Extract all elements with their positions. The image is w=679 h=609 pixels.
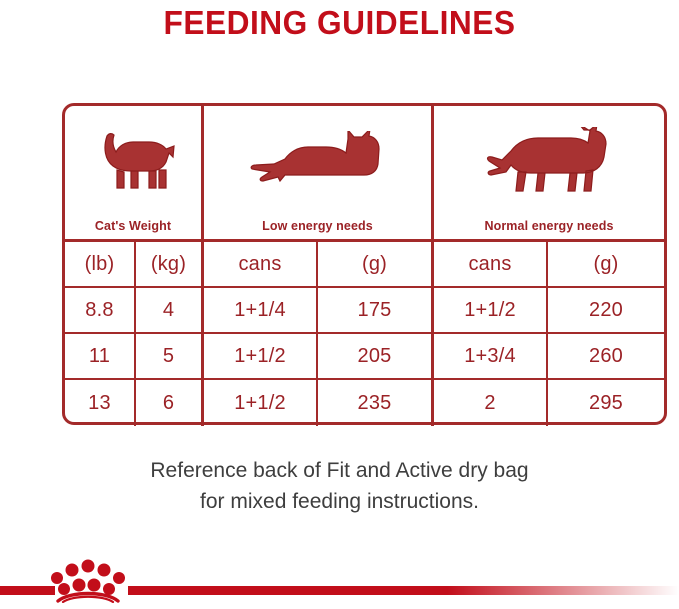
- cell-low-cans: 1+1/4: [204, 288, 318, 332]
- cell-normal-cans: 1+3/4: [434, 334, 548, 378]
- subheader-normal-cans: cans: [434, 242, 548, 286]
- cell-normal-cans: 2: [434, 380, 548, 426]
- cell-lb: 11: [65, 334, 136, 378]
- cat-walking-icon: [434, 106, 664, 217]
- cell-lb: 13: [65, 380, 136, 426]
- brand-footer: [0, 545, 679, 609]
- feeding-note: Reference back of Fit and Active dry bag…: [0, 455, 679, 517]
- cell-kg: 5: [136, 334, 204, 378]
- table-row: 11 5 1+1/2 205 1+3/4 260: [65, 334, 664, 380]
- cell-kg: 6: [136, 380, 204, 426]
- cell-low-cans: 1+1/2: [204, 334, 318, 378]
- table-row: 13 6 1+1/2 235 2 295: [65, 380, 664, 426]
- feeding-note-line-1: Reference back of Fit and Active dry bag: [0, 455, 679, 486]
- cell-normal-grams: 220: [548, 288, 664, 332]
- subheader-normal-grams: (g): [548, 242, 664, 286]
- subheader-lb: (lb): [65, 242, 136, 286]
- subheader-low-cans: cans: [204, 242, 318, 286]
- header-cell-normal-energy: Normal energy needs: [434, 106, 664, 239]
- header-label-cats-weight: Cat's Weight: [95, 219, 171, 233]
- header-cell-low-energy: Low energy needs: [204, 106, 434, 239]
- feeding-note-line-2: for mixed feeding instructions.: [0, 486, 679, 517]
- cat-standing-icon: [65, 106, 201, 217]
- table-subheader-row: (lb) (kg) cans (g) cans (g): [65, 242, 664, 288]
- cell-low-grams: 175: [318, 288, 434, 332]
- table-row: 8.8 4 1+1/4 175 1+1/2 220: [65, 288, 664, 334]
- header-label-low-energy: Low energy needs: [262, 219, 373, 233]
- subheader-kg: (kg): [136, 242, 204, 286]
- cell-normal-grams: 295: [548, 380, 664, 426]
- royal-canin-crown-logo: [48, 557, 128, 603]
- header-cell-cats-weight: Cat's Weight: [65, 106, 204, 239]
- page-title: FEEDING GUIDELINES: [14, 4, 666, 42]
- cell-kg: 4: [136, 288, 204, 332]
- subheader-low-grams: (g): [318, 242, 434, 286]
- cell-low-grams: 205: [318, 334, 434, 378]
- table-icon-header-row: Cat's Weight Low energy needs Normal ene…: [65, 106, 664, 242]
- cell-normal-grams: 260: [548, 334, 664, 378]
- cat-lying-icon: [204, 106, 431, 217]
- cell-lb: 8.8: [65, 288, 136, 332]
- cell-low-grams: 235: [318, 380, 434, 426]
- brand-band-left: [0, 586, 55, 595]
- feeding-guidelines-table: Cat's Weight Low energy needs Normal ene…: [62, 103, 667, 425]
- brand-band-right: [128, 586, 679, 595]
- cell-normal-cans: 1+1/2: [434, 288, 548, 332]
- cell-low-cans: 1+1/2: [204, 380, 318, 426]
- header-label-normal-energy: Normal energy needs: [484, 219, 613, 233]
